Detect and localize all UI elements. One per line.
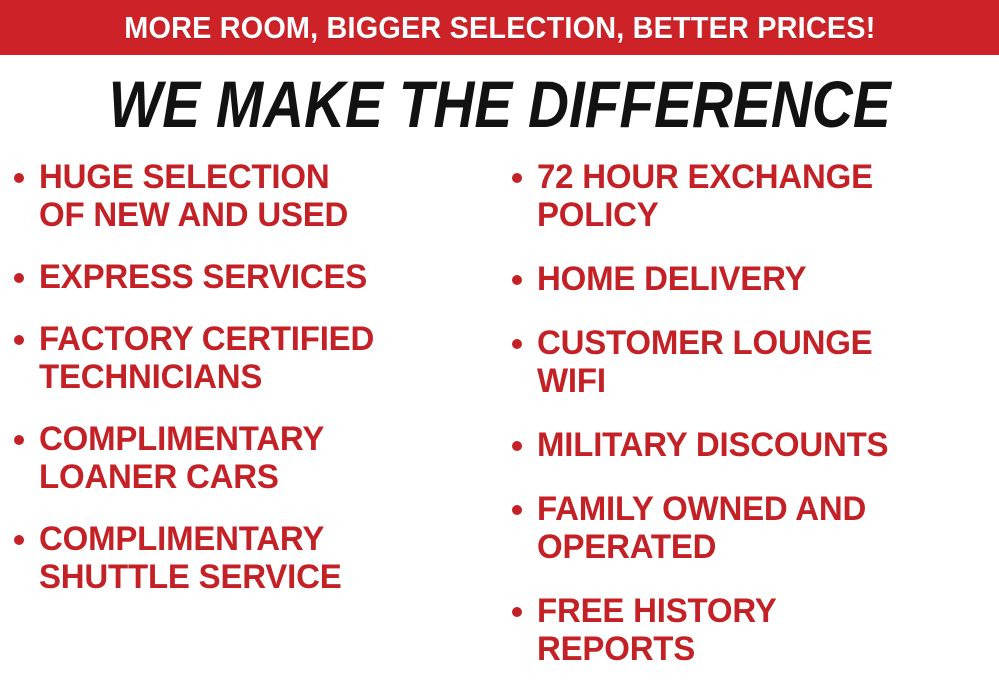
- promo-poster: MORE ROOM, BIGGER SELECTION, BETTER PRIC…: [0, 0, 999, 692]
- bullet-dot-icon: [14, 273, 24, 283]
- page-title: WE MAKE THE DIFFERENCE: [108, 71, 890, 137]
- list-item: HUGE SELECTION OF NEW AND USED: [14, 158, 494, 234]
- bullet-dot-icon: [512, 505, 522, 515]
- bullet-dot-icon: [512, 173, 522, 183]
- bullet-dot-icon: [14, 435, 24, 445]
- list-item: FREE HISTORY REPORTS: [512, 592, 999, 668]
- list-item-label: HUGE SELECTION OF NEW AND USED: [39, 158, 480, 234]
- top-banner: MORE ROOM, BIGGER SELECTION, BETTER PRIC…: [0, 0, 999, 55]
- benefits-column-right: 72 HOUR EXCHANGE POLICY HOME DELIVERY CU…: [512, 158, 999, 692]
- bullet-dot-icon: [14, 173, 24, 183]
- list-item-label: FAMILY OWNED AND OPERATED: [537, 490, 985, 566]
- bullet-dot-icon: [512, 441, 522, 451]
- bullet-dot-icon: [512, 339, 522, 349]
- list-item-label: CUSTOMER LOUNGE WIFI: [537, 324, 985, 400]
- bullet-dot-icon: [512, 275, 522, 285]
- list-item: MILITARY DISCOUNTS: [512, 426, 999, 464]
- list-item-label: HOME DELIVERY: [537, 260, 985, 298]
- list-item: EXPRESS SERVICES: [14, 258, 494, 296]
- list-item-label: EXPRESS SERVICES: [39, 258, 480, 296]
- list-item-label: 72 HOUR EXCHANGE POLICY: [537, 158, 985, 234]
- bullet-dot-icon: [14, 535, 24, 545]
- headline-container: WE MAKE THE DIFFERENCE: [0, 66, 999, 142]
- list-item-label: FACTORY CERTIFIED TECHNICIANS: [39, 320, 480, 396]
- list-item: COMPLIMENTARY LOANER CARS: [14, 420, 494, 496]
- list-item-label: MILITARY DISCOUNTS: [537, 426, 985, 464]
- benefits-columns: HUGE SELECTION OF NEW AND USED EXPRESS S…: [0, 158, 999, 692]
- list-item: FAMILY OWNED AND OPERATED: [512, 490, 999, 566]
- list-item: COMPLIMENTARY SHUTTLE SERVICE: [14, 520, 494, 596]
- list-item: HOME DELIVERY: [512, 260, 999, 298]
- bullet-dot-icon: [512, 607, 522, 617]
- list-item-label: COMPLIMENTARY SHUTTLE SERVICE: [39, 520, 480, 596]
- list-item: 72 HOUR EXCHANGE POLICY: [512, 158, 999, 234]
- list-item: CUSTOMER LOUNGE WIFI: [512, 324, 999, 400]
- list-item-label: COMPLIMENTARY LOANER CARS: [39, 420, 480, 496]
- list-item: FACTORY CERTIFIED TECHNICIANS: [14, 320, 494, 396]
- benefits-column-left: HUGE SELECTION OF NEW AND USED EXPRESS S…: [14, 158, 494, 620]
- banner-headline-text: MORE ROOM, BIGGER SELECTION, BETTER PRIC…: [124, 12, 875, 43]
- list-item-label: FREE HISTORY REPORTS: [537, 592, 985, 668]
- bullet-dot-icon: [14, 335, 24, 345]
